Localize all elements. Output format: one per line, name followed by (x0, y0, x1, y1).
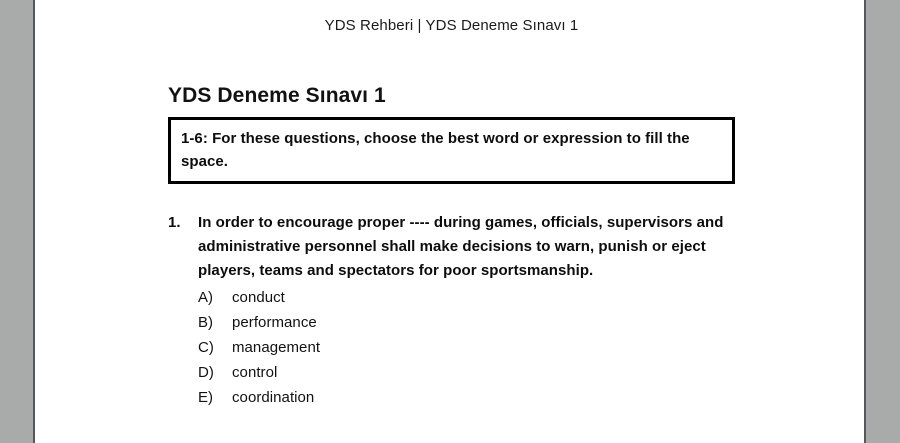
option-d[interactable]: D) control (198, 360, 735, 385)
option-e-letter: E) (198, 385, 232, 410)
option-d-letter: D) (198, 360, 232, 385)
option-b-letter: B) (198, 310, 232, 335)
option-c-text: management (232, 335, 320, 360)
option-c[interactable]: C) management (198, 335, 735, 360)
option-e-text: coordination (232, 385, 314, 410)
option-d-text: control (232, 360, 277, 385)
instructions-box: 1-6: For these questions, choose the bes… (168, 117, 735, 184)
question-1: 1. In order to encourage proper ---- dur… (168, 211, 735, 410)
option-b-text: performance (232, 310, 317, 335)
question-1-options: A) conduct B) performance C) management … (198, 285, 735, 410)
option-a[interactable]: A) conduct (198, 285, 735, 310)
question-1-number: 1. (168, 211, 198, 235)
instructions-text: 1-6: For these questions, choose the bes… (181, 127, 723, 173)
option-e[interactable]: E) coordination (198, 385, 735, 410)
question-1-stem: 1. In order to encourage proper ---- dur… (168, 211, 735, 283)
option-b[interactable]: B) performance (198, 310, 735, 335)
document-page: YDS Rehberi | YDS Deneme Sınavı 1 YDS De… (33, 0, 866, 443)
question-1-text: In order to encourage proper ---- during… (198, 211, 735, 283)
option-a-letter: A) (198, 285, 232, 310)
page-title: YDS Deneme Sınavı 1 (168, 83, 386, 109)
option-c-letter: C) (198, 335, 232, 360)
document-viewer: YDS Rehberi | YDS Deneme Sınavı 1 YDS De… (0, 0, 900, 443)
running-header: YDS Rehberi | YDS Deneme Sınavı 1 (35, 16, 866, 35)
option-a-text: conduct (232, 285, 285, 310)
